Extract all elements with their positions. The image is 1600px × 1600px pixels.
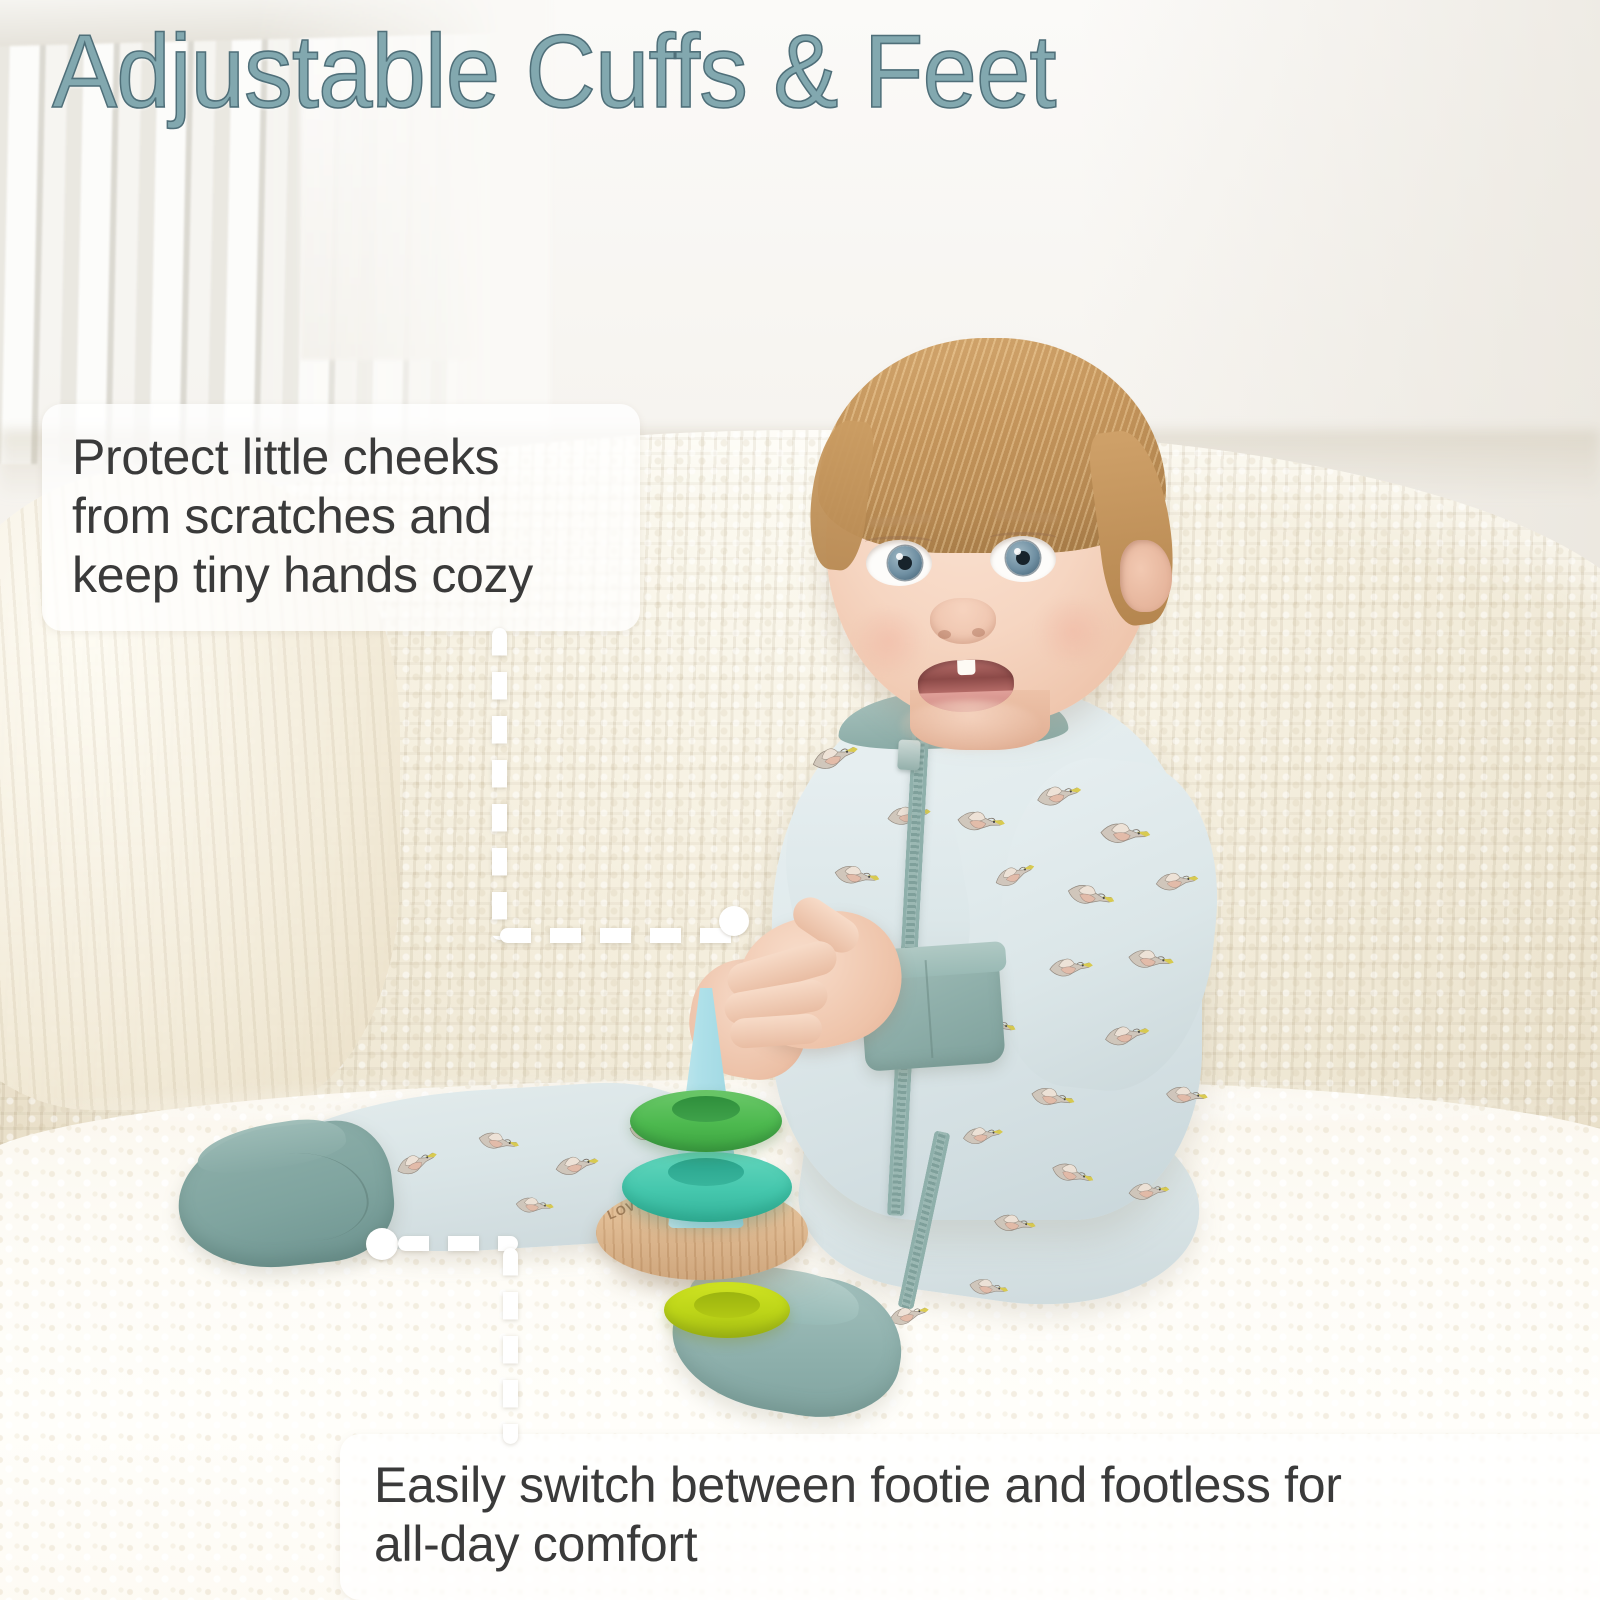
cuffs-connector-vertical: [492, 628, 507, 940]
toy-ring-green-hole: [672, 1096, 740, 1122]
baby-chin: [900, 700, 1040, 752]
cuffs-connector-horizontal: [500, 928, 750, 943]
callout-feet: Easily switch between footie and footles…: [340, 1434, 1600, 1600]
baby-ear: [1120, 540, 1172, 612]
baby-left-cheek: [846, 610, 932, 672]
feet-connector-horizontal: [398, 1236, 518, 1251]
toy-ring-teal-hole: [668, 1158, 744, 1186]
cuffs-connector-endpoint-dot: [719, 906, 749, 936]
feet-connector-vertical: [503, 1248, 518, 1444]
product-photo-scene: LOVEVERY: [0, 0, 1600, 1600]
callout-cuffs: Protect little cheeks from scratches and…: [42, 404, 640, 631]
page-title: Adjustable Cuffs & Feet: [52, 14, 1056, 130]
left-nostril: [938, 630, 951, 639]
left-eye-glint: [896, 553, 903, 560]
baby-finger-3: [729, 1013, 823, 1049]
infographic-canvas: LOVEVERY Adjustable Cuffs & Feet Protect…: [0, 0, 1600, 1600]
right-nostril: [972, 628, 985, 637]
left-eyelash: [865, 536, 933, 548]
baby-subject: [0, 0, 1600, 1600]
zipper-pull: [897, 739, 921, 770]
baby-right-cheek: [1030, 600, 1116, 662]
right-eyelash: [989, 532, 1057, 544]
baby-tooth: [957, 660, 976, 676]
feet-connector-endpoint-dot: [366, 1228, 398, 1260]
right-eye-glint: [1014, 548, 1021, 555]
toy-ring-lime-hole: [694, 1292, 760, 1318]
